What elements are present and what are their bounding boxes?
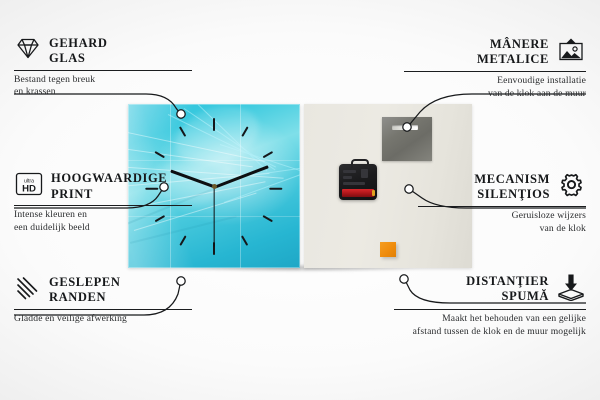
- feature-subtitle-line1: Eenvoudige installatie: [497, 75, 586, 86]
- feature-title-line2: METALICE: [477, 52, 549, 66]
- feature-subtitle-line1: Gladde en veilige afwerking: [14, 313, 127, 324]
- hd-label: HD: [22, 184, 36, 195]
- feature-title-line1: GESLEPEN: [49, 275, 121, 289]
- feature-hoogwaardige-print: ultra HD HOOGWAARDIGE PRINT Intense kleu…: [14, 171, 192, 234]
- divider: [418, 206, 586, 207]
- clock-hand-minute: [214, 165, 269, 188]
- hanger-slot: [392, 125, 418, 130]
- feature-manere-metalice: MÂNERE METALICE Eenvoudige installatie v…: [404, 36, 586, 100]
- feature-subtitle: Eenvoudige installatie van de klok aan d…: [404, 75, 586, 100]
- mechanism-hook: [351, 159, 369, 168]
- divider: [14, 309, 192, 310]
- metal-hanger: [382, 117, 432, 161]
- feature-subtitle-line1: Maakt het behouden van een gelijke: [442, 313, 586, 324]
- feature-title-line1: MECANISM: [474, 172, 550, 186]
- feature-title: GESLEPEN RANDEN: [49, 275, 121, 306]
- feature-title-line2: PRINT: [51, 187, 93, 201]
- feature-title-line2: GLAS: [49, 51, 85, 65]
- wall-hanger-frame-icon: [556, 36, 586, 68]
- foam-spacer: [380, 242, 396, 257]
- feature-subtitle-line1: Geruisloze wijzers: [512, 210, 586, 221]
- ultra-hd-icon: ultra HD: [14, 171, 44, 202]
- feature-subtitle: Intense kleuren en een duidelijk beeld: [14, 209, 192, 234]
- battery-terminal: [372, 190, 375, 196]
- feature-subtitle-line2: van de klok: [540, 223, 586, 234]
- feature-title-line1: HOOGWAARDIGE: [51, 171, 167, 185]
- feature-title-line2: SPUMĂ: [502, 289, 549, 303]
- feature-title: MECANISM SILENŢIOS: [474, 172, 550, 203]
- divider: [404, 71, 586, 72]
- feature-subtitle: Gladde en veilige afwerking: [14, 313, 192, 326]
- clock-hub: [212, 184, 217, 189]
- feature-subtitle-line2: een duidelijk beeld: [14, 222, 90, 233]
- beveled-edges-icon: [14, 275, 42, 305]
- feature-subtitle: Geruisloze wijzers van de klok: [418, 210, 586, 235]
- infographic-page: GEHARD GLAS Bestand tegen breuk en krass…: [0, 0, 600, 400]
- feature-title-line1: DISTANŢIER: [466, 274, 549, 288]
- gear-icon: [557, 171, 586, 203]
- feature-gehard-glas: GEHARD GLAS Bestand tegen breuk en krass…: [14, 36, 192, 99]
- feature-subtitle-line1: Bestand tegen breuk: [14, 74, 95, 85]
- feature-subtitle: Maakt het behouden van een gelijke afsta…: [394, 313, 586, 338]
- clock-hand-second: [213, 187, 214, 247]
- feature-title-line2: RANDEN: [49, 290, 106, 304]
- battery: [342, 189, 374, 197]
- feature-subtitle-line2: en krassen: [14, 86, 56, 97]
- feature-title-line1: MÂNERE: [490, 37, 549, 51]
- feature-title-line2: SILENŢIOS: [477, 187, 550, 201]
- diamond-icon: [14, 36, 42, 66]
- feature-title-line1: GEHARD: [49, 36, 107, 50]
- feature-title: DISTANŢIER SPUMĂ: [466, 274, 549, 305]
- feature-subtitle-line2: afstand tussen de klok en de muur mogeli…: [413, 326, 586, 337]
- divider: [14, 205, 192, 206]
- feature-title: GEHARD GLAS: [49, 36, 107, 67]
- feature-subtitle-line1: Intense kleuren en: [14, 209, 87, 220]
- feature-title: MÂNERE METALICE: [477, 37, 549, 68]
- clock-mechanism: [339, 164, 377, 200]
- feature-title: HOOGWAARDIGE PRINT: [51, 171, 167, 202]
- feature-subtitle: Bestand tegen breuk en krassen: [14, 74, 192, 99]
- feature-mecanism-silentios: MECANISM SILENŢIOS Geruisloze wijzers va…: [418, 171, 586, 235]
- feature-distantier-spuma: DISTANŢIER SPUMĂ Maakt het behouden van …: [394, 272, 586, 338]
- divider: [394, 309, 586, 310]
- foam-spacer-icon: [556, 272, 586, 306]
- divider: [14, 70, 192, 71]
- feature-subtitle-line2: van de klok aan de muur: [488, 88, 586, 99]
- feature-geslepen-randen: GESLEPEN RANDEN Gladde en veilige afwerk…: [14, 275, 192, 325]
